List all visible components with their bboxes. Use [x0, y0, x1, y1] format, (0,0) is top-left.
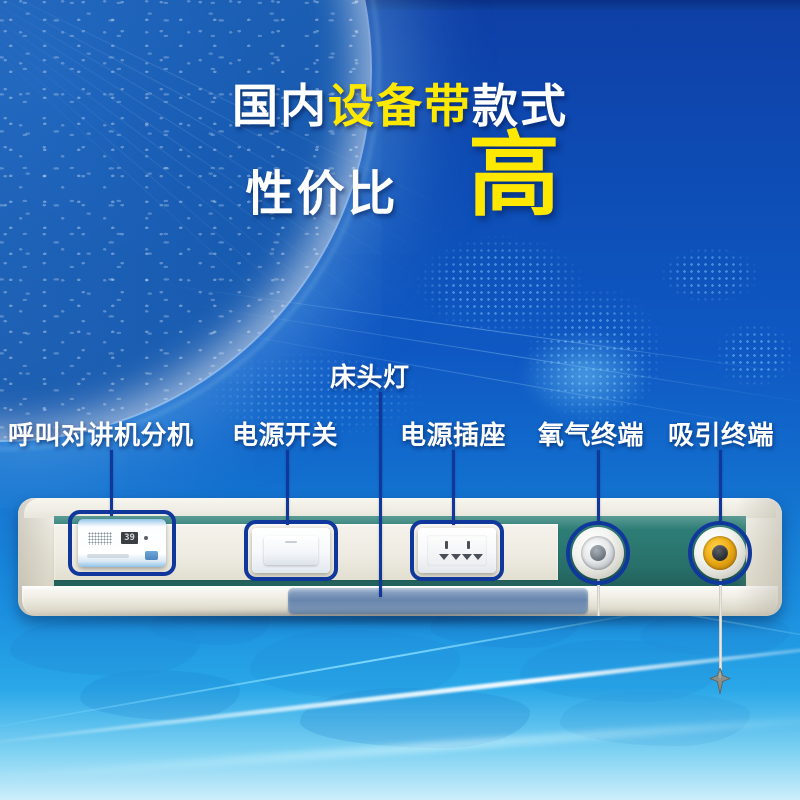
callout-label-intercom: 呼叫对讲机分机 [8, 415, 194, 452]
leader-line-intercom [110, 450, 113, 516]
callout-labels: 床头灯 呼叫对讲机分机 电源开关 电源插座 氧气终端 吸引终端 [0, 0, 800, 800]
leader-line-bed-lamp [379, 392, 382, 597]
callout-label-bed-lamp: 床头灯 [330, 357, 410, 394]
leader-line-power-switch [286, 450, 289, 525]
callout-label-oxygen-terminal: 氧气终端 [538, 415, 644, 452]
callout-label-power-outlet: 电源插座 [400, 415, 506, 452]
leader-line-suction-terminal [719, 450, 722, 523]
callout-label-suction-terminal: 吸引终端 [668, 415, 774, 452]
callout-label-power-switch: 电源开关 [232, 415, 338, 452]
leader-line-power-outlet [452, 450, 455, 525]
leader-line-oxygen-terminal [597, 450, 600, 523]
